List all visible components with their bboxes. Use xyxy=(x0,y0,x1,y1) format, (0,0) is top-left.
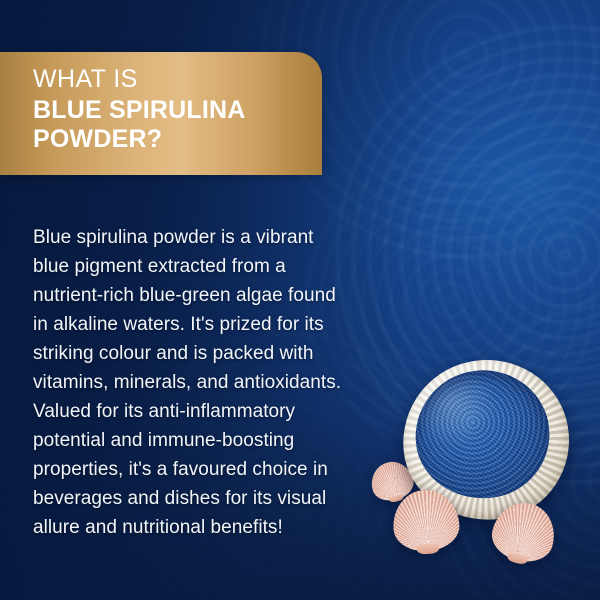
banner-text-block: WHAT IS BLUE SPIRULINA POWDER? xyxy=(33,65,312,155)
heading-title-line-1: BLUE SPIRULINA xyxy=(33,96,312,126)
body-paragraph: Blue spirulina powder is a vibrant blue … xyxy=(33,223,353,542)
heading-title: BLUE SPIRULINA POWDER? xyxy=(33,96,312,155)
heading-kicker: WHAT IS xyxy=(33,65,312,95)
heading-title-line-2: POWDER? xyxy=(33,125,312,155)
poster-canvas: WHAT IS BLUE SPIRULINA POWDER? Blue spir… xyxy=(0,0,600,600)
gold-heading-banner: WHAT IS BLUE SPIRULINA POWDER? xyxy=(0,52,322,175)
product-photo xyxy=(355,355,600,600)
